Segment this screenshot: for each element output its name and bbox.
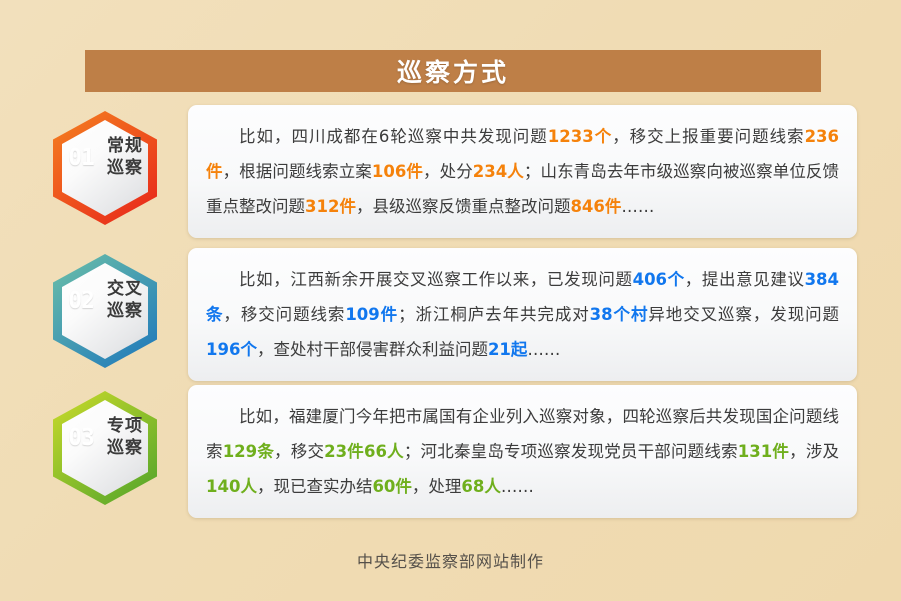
paragraph-text: ，根据问题线索立案 bbox=[223, 162, 372, 181]
section-label-line2: 巡察 bbox=[93, 300, 157, 322]
section-row: 01 常规 巡察 比如，四川成都在6轮巡察中共发现问题1233个，移交上报重要问… bbox=[45, 105, 857, 238]
section-row: 02 交叉 巡察 比如，江西新余开展交叉巡察工作以来，已发现问题406个，提出意… bbox=[45, 248, 857, 381]
section-row: 03 专项 巡察 比如，福建厦门今年把市属国有企业列入巡察对象，四轮巡察后共发现… bbox=[45, 385, 857, 518]
paragraph-text: ；河北秦皇岛专项巡察发现党员干部问题线索 bbox=[404, 442, 738, 461]
section-label-line2: 巡察 bbox=[93, 437, 157, 459]
paragraph-text: 比如，四川成都在6轮巡察中共发现问题 bbox=[239, 127, 548, 146]
paragraph-text: 比如，江西新余开展交叉巡察工作以来，已发现问题 bbox=[239, 270, 633, 289]
paragraph-text: ，移交问题线索 bbox=[223, 305, 345, 324]
highlighted-figure: 196个 bbox=[206, 340, 257, 359]
paragraph-text: ，查处村干部侵害群众利益问题 bbox=[257, 340, 488, 359]
paragraph-text: ，现已查实办结 bbox=[257, 477, 373, 496]
section-card: 比如，四川成都在6轮巡察中共发现问题1233个，移交上报重要问题线索236件，根… bbox=[188, 105, 857, 238]
paragraph-text: ，处理 bbox=[412, 477, 462, 496]
highlighted-figure: 140人 bbox=[206, 477, 257, 496]
section-paragraph: 比如，福建厦门今年把市属国有企业列入巡察对象，四轮巡察后共发现国企问题线索129… bbox=[206, 399, 839, 504]
section-label: 交叉 巡察 bbox=[93, 278, 157, 322]
page-title: 巡察方式 bbox=[397, 53, 509, 89]
paragraph-text: …… bbox=[501, 477, 534, 496]
paragraph-text: ，县级巡察反馈重点整改问题 bbox=[356, 197, 571, 216]
highlighted-figure: 131件 bbox=[738, 442, 789, 461]
paragraph-text: …… bbox=[527, 340, 560, 359]
highlighted-figure: 1233个 bbox=[548, 127, 612, 146]
highlighted-figure: 234人 bbox=[473, 162, 524, 181]
highlighted-figure: 312件 bbox=[305, 197, 356, 216]
section-label-line1: 常规 bbox=[93, 135, 157, 157]
section-paragraph: 比如，四川成都在6轮巡察中共发现问题1233个，移交上报重要问题线索236件，根… bbox=[206, 119, 839, 224]
section-label-line1: 专项 bbox=[93, 415, 157, 437]
infographic-page: 巡察方式 01 常规 巡察 比如，四川成都在6轮巡察中共发现问题1233个，移交… bbox=[0, 0, 901, 601]
highlighted-figure: 68人 bbox=[461, 477, 500, 496]
section-badge: 01 常规 巡察 bbox=[45, 105, 165, 231]
highlighted-figure: 38个村 bbox=[590, 305, 649, 324]
section-label-line1: 交叉 bbox=[93, 278, 157, 300]
highlighted-figure: 406个 bbox=[633, 270, 685, 289]
highlighted-figure: 129条 bbox=[223, 442, 274, 461]
section-label: 常规 巡察 bbox=[93, 135, 157, 179]
section-badge: 02 交叉 巡察 bbox=[45, 248, 165, 374]
paragraph-text: ，提出意见建议 bbox=[685, 270, 805, 289]
paragraph-text: ；浙江桐庐去年共完成对 bbox=[398, 305, 590, 324]
paragraph-text: …… bbox=[621, 197, 654, 216]
paragraph-text: ，移交上报重要问题线索 bbox=[612, 127, 804, 146]
highlighted-figure: 60件 bbox=[372, 477, 411, 496]
highlighted-figure: 106件 bbox=[372, 162, 423, 181]
highlighted-figure: 109件 bbox=[345, 305, 398, 324]
highlighted-figure: 23件66人 bbox=[324, 442, 404, 461]
section-badge: 03 专项 巡察 bbox=[45, 385, 165, 511]
title-bar: 巡察方式 bbox=[85, 50, 821, 92]
highlighted-figure: 21起 bbox=[488, 340, 527, 359]
paragraph-text: 异地交叉巡察，发现问题 bbox=[648, 305, 839, 324]
paragraph-text: ，处分 bbox=[423, 162, 473, 181]
section-card: 比如，福建厦门今年把市属国有企业列入巡察对象，四轮巡察后共发现国企问题线索129… bbox=[188, 385, 857, 518]
section-card: 比如，江西新余开展交叉巡察工作以来，已发现问题406个，提出意见建议384条，移… bbox=[188, 248, 857, 381]
paragraph-text: ，涉及 bbox=[789, 442, 839, 461]
footer-credit: 中央纪委监察部网站制作 bbox=[0, 548, 901, 572]
section-label: 专项 巡察 bbox=[93, 415, 157, 459]
section-paragraph: 比如，江西新余开展交叉巡察工作以来，已发现问题406个，提出意见建议384条，移… bbox=[206, 262, 839, 367]
highlighted-figure: 846件 bbox=[570, 197, 621, 216]
paragraph-text: ，移交 bbox=[274, 442, 324, 461]
section-label-line2: 巡察 bbox=[93, 157, 157, 179]
